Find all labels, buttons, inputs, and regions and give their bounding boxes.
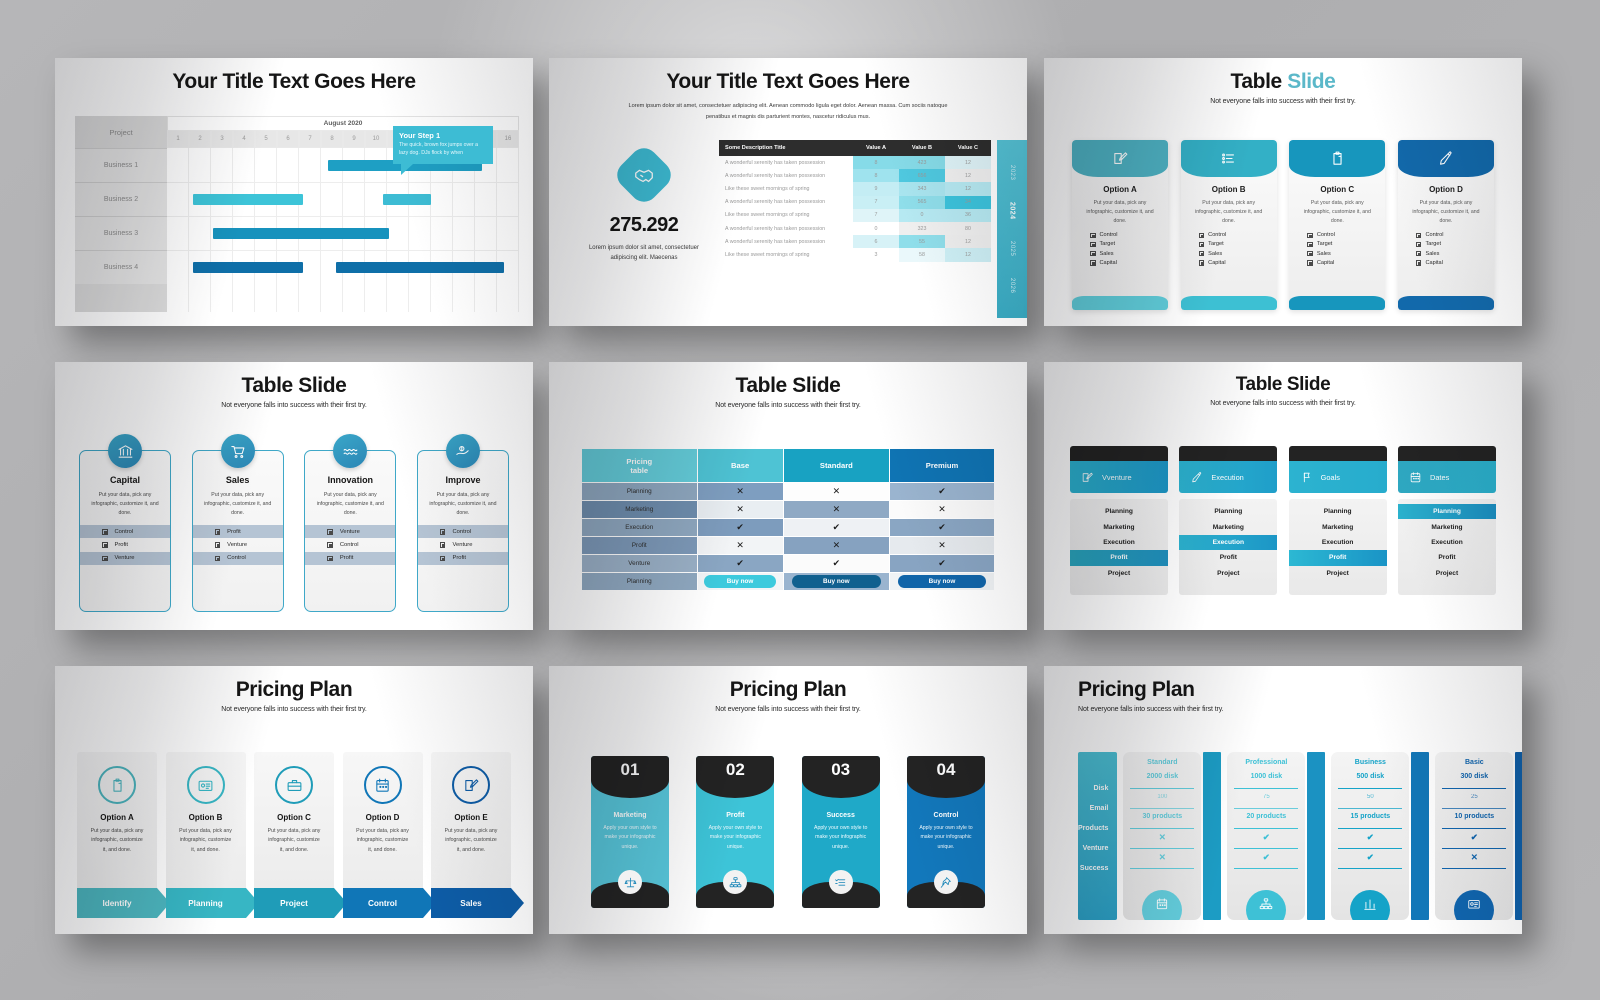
card-list-item[interactable]: Capital — [1307, 260, 1385, 266]
slide-arrow-options[interactable]: Pricing Plan Not everyone falls into suc… — [55, 666, 533, 934]
slide-data-table[interactable]: Your Title Text Goes Here Lorem ipsum do… — [549, 58, 1027, 326]
card-list-item[interactable]: Control — [1307, 232, 1385, 238]
card-icon-badge — [934, 870, 958, 894]
id-card-icon — [1467, 897, 1481, 911]
pricing-plan-column[interactable]: Standard2000 disk10030 products✕✕ — [1123, 752, 1201, 920]
card-list-label: Control — [340, 542, 359, 548]
card-list-label: Control — [1425, 232, 1443, 238]
checkbox-icon[interactable] — [1199, 233, 1205, 239]
gantt-gridline — [475, 148, 497, 312]
card-icon-ring — [364, 766, 402, 804]
gantt-day-cell: 10 — [365, 130, 387, 148]
card-list-item[interactable]: Execution — [1289, 535, 1387, 550]
table-cell-value: 343 — [899, 182, 945, 195]
year-rail[interactable]: 2023202420252026 — [997, 140, 1027, 318]
slide-pricing-matrix[interactable]: Table Slide Not everyone falls into succ… — [549, 362, 1027, 630]
card-title: Dates — [1430, 473, 1449, 482]
pricing-cell-cta[interactable]: Buy now — [698, 573, 783, 590]
slide7-subtitle: Not everyone falls into success with the… — [75, 706, 513, 713]
arrow-option-card[interactable]: Option CPut your data, pick any infograp… — [254, 752, 334, 918]
card-list-item[interactable]: Planning — [1398, 504, 1496, 519]
arrow-option-card[interactable]: Option EPut your data, pick any infograp… — [431, 752, 511, 918]
pricing-cell: ✕ — [698, 483, 783, 500]
card-list-item[interactable]: Control — [193, 552, 283, 565]
slide-gantt[interactable]: Your Title Text Goes Here Project Busine… — [55, 58, 533, 326]
option-card[interactable]: Option DPut your data, pick any infograp… — [1398, 140, 1494, 310]
check-icon: ✔ — [1234, 849, 1298, 869]
card-list-item[interactable]: Sales — [1307, 251, 1385, 257]
slide-dark-top-cards[interactable]: Table Slide Not everyone falls into succ… — [1044, 362, 1522, 630]
card-description: Apply your own style to make your infogr… — [907, 819, 985, 852]
gantt-row-divider — [167, 182, 519, 183]
card-description: Put your data, pick any infographic, cus… — [1181, 194, 1277, 226]
year-item[interactable]: 2026 — [1009, 278, 1015, 293]
card-list-item[interactable]: Marketing — [1398, 519, 1496, 534]
card-icon-badge — [829, 870, 853, 894]
card-header — [1289, 140, 1385, 177]
option-card[interactable]: Option BPut your data, pick any infograp… — [1181, 140, 1277, 310]
pricing-plan-column[interactable]: Basic300 disk2510 products✔✕ — [1435, 752, 1513, 920]
checkbox-icon[interactable] — [215, 542, 221, 548]
card-description: Put your data, pick any infographic, cus… — [80, 485, 170, 525]
checkbox-icon[interactable] — [1307, 260, 1313, 266]
year-item[interactable]: 2025 — [1009, 241, 1015, 256]
pricing-col-header: Premium — [890, 449, 994, 482]
checkbox-icon[interactable] — [102, 529, 108, 535]
card-list-item[interactable]: Control — [1090, 232, 1168, 238]
gantt-bar[interactable] — [383, 194, 431, 205]
arrow-option-card[interactable]: Option APut your data, pick any infograp… — [77, 752, 157, 918]
pricing-value: 10 products — [1442, 809, 1506, 829]
slide6-subtitle: Not everyone falls into success with the… — [1064, 400, 1502, 407]
checkbox-icon[interactable] — [102, 556, 108, 562]
year-item[interactable]: 2023 — [1009, 165, 1015, 180]
cross-icon: ✕ — [938, 504, 946, 514]
card-list-item[interactable]: Planning — [1179, 504, 1277, 519]
card-list-label: Capital — [1425, 260, 1442, 266]
card-spacer — [80, 565, 170, 579]
hierarchy-icon — [1259, 897, 1273, 911]
dark-top-card[interactable]: GoalsPlanningMarketingExecutionProfitPro… — [1289, 446, 1387, 612]
slide5-title: Table Slide — [569, 374, 1007, 398]
pricing-cell: ✔ — [784, 555, 889, 572]
pricing-value: 20 products — [1234, 809, 1298, 829]
card-description: Put your data, pick any infographic, cus… — [305, 485, 395, 525]
stage-arrow[interactable]: Planning — [166, 888, 246, 918]
cart-icon — [229, 443, 246, 460]
table-cell-value: 12 — [945, 182, 991, 195]
gantt-bar[interactable] — [213, 228, 389, 239]
card-title: Option C — [254, 813, 334, 822]
buy-now-button[interactable]: Buy now — [792, 575, 880, 588]
data-table-header-cell: Value C — [945, 140, 991, 156]
card-title: Option A — [77, 813, 157, 822]
card-footer — [1181, 296, 1277, 310]
card-list-item[interactable]: Target — [1199, 241, 1277, 247]
table-cell-desc: A wonderful serenity has taken possessio… — [719, 196, 853, 209]
pricing-row-label: Products — [1078, 819, 1117, 839]
outline-card[interactable]: ImprovePut your data, pick any infograph… — [417, 450, 509, 612]
card-title: Capital — [80, 475, 170, 485]
card-icon-ring — [452, 766, 490, 804]
slide-pricing-columns[interactable]: Pricing Plan Not everyone falls into suc… — [1044, 666, 1522, 934]
gantt-gridline — [167, 148, 189, 312]
checkbox-icon[interactable] — [215, 556, 221, 562]
stage-arrow-label: Planning — [188, 899, 223, 908]
table-cell-value: 323 — [899, 222, 945, 235]
numbered-card[interactable]: 03SuccessApply your own style to make yo… — [802, 756, 880, 908]
edit-square-icon — [1081, 471, 1094, 484]
card-icon-circle — [108, 434, 142, 468]
checkbox-icon[interactable] — [327, 542, 333, 548]
cross-icon: ✕ — [736, 504, 744, 514]
stage-arrow[interactable]: Control — [343, 888, 423, 918]
card-number: 02 — [696, 756, 774, 798]
card-icon-circle — [446, 434, 480, 468]
stage-arrow[interactable]: Identify — [77, 888, 157, 918]
card-title: Vventure — [1102, 473, 1132, 482]
stage-arrow-label: Sales — [460, 899, 481, 908]
card-list-item[interactable]: Profit — [1289, 550, 1387, 565]
gantt-row-label: Business 2 — [75, 182, 167, 216]
table-cell-value: 34 — [945, 196, 991, 209]
checkbox-icon[interactable] — [1416, 233, 1422, 239]
pricing-value: 1000 disk — [1234, 769, 1298, 789]
slide3-title-accent: Slide — [1287, 70, 1335, 93]
card-icon-circle — [333, 434, 367, 468]
table-cell-desc: Like these sweet mornings of spring — [719, 182, 853, 195]
card-list-item[interactable]: Marketing — [1070, 519, 1168, 534]
card-header: Vventure — [1070, 461, 1168, 493]
card-list-item[interactable]: Venture — [305, 525, 395, 538]
card-description: Put your data, pick any infographic, cus… — [343, 822, 423, 855]
pricing-cell: ✔ — [698, 519, 783, 536]
pricing-row-label: Venture — [582, 555, 697, 572]
card-list-item[interactable]: Sales — [1416, 251, 1494, 257]
checkbox-icon[interactable] — [440, 529, 446, 535]
card-list-label: Capital — [1208, 260, 1225, 266]
numbered-card[interactable]: 01MarketingApply your own style to make … — [591, 756, 669, 908]
card-list-item[interactable]: Control — [305, 538, 395, 551]
card-list-item[interactable]: Execution — [1398, 535, 1496, 550]
checkbox-icon[interactable] — [215, 529, 221, 535]
card-list-item[interactable]: Sales — [1199, 251, 1277, 257]
slide5-subtitle: Not everyone falls into success with the… — [569, 402, 1007, 409]
checkbox-icon[interactable] — [440, 556, 446, 562]
card-list-item[interactable]: Profit — [80, 538, 170, 551]
card-list-item[interactable]: Venture — [80, 552, 170, 565]
slide7-title: Pricing Plan — [75, 678, 513, 702]
table-cell-value: 0 — [899, 209, 945, 222]
slide2-title: Your Title Text Goes Here — [569, 70, 1007, 94]
pricing-cell: ✕ — [784, 501, 889, 518]
gantt-day-cell: 7 — [299, 130, 321, 148]
gantt-bar[interactable] — [193, 194, 303, 205]
check-icon: ✔ — [1338, 829, 1402, 849]
card-body: Option APut your data, pick any infograp… — [77, 752, 157, 888]
gantt-tooltip: Your Step 1 The quick, brown fox jumps o… — [393, 126, 493, 164]
card-list-label: Sales — [1425, 251, 1439, 257]
card-description: Put your data, pick any infographic, cus… — [166, 822, 246, 855]
pricing-plan-column[interactable]: Business500 disk5015 products✔✔ — [1331, 752, 1409, 920]
checkbox-icon[interactable] — [1199, 242, 1205, 248]
card-title: Option D — [343, 813, 423, 822]
checkbox-icon[interactable] — [327, 529, 333, 535]
card-list-item[interactable]: Profit — [193, 525, 283, 538]
arrow-option-card[interactable]: Option DPut your data, pick any infograp… — [343, 752, 423, 918]
card-title: Execution — [1211, 473, 1243, 482]
gantt-bar[interactable] — [193, 262, 303, 273]
gantt-day-cell: 1 — [167, 130, 189, 148]
pricing-row-label: Venture — [1078, 839, 1117, 859]
card-description: Put your data, pick any infographic, cus… — [1398, 194, 1494, 226]
card-list-item[interactable]: Project — [1070, 566, 1168, 581]
card-list-item[interactable]: Project — [1398, 566, 1496, 581]
pricing-cell: ✕ — [890, 537, 994, 554]
slide-option-cards[interactable]: Table Slide Not everyone falls into succ… — [1044, 58, 1522, 326]
cross-icon: ✕ — [1130, 829, 1194, 849]
option-card[interactable]: Option CPut your data, pick any infograp… — [1289, 140, 1385, 310]
table-cell-value: 80 — [945, 222, 991, 235]
card-list-item[interactable]: Target — [1307, 241, 1385, 247]
gantt-day-cell: 9 — [343, 130, 365, 148]
check-icon: ✔ — [1442, 829, 1506, 849]
edit-square-icon — [463, 777, 480, 794]
pricing-cell-cta[interactable]: Buy now — [784, 573, 889, 590]
buy-now-button[interactable]: Buy now — [704, 575, 776, 588]
pricing-col-header: Base — [698, 449, 783, 482]
checkbox-icon[interactable] — [1307, 251, 1313, 257]
slide-outline-cards[interactable]: Table Slide Not everyone falls into succ… — [55, 362, 533, 630]
dark-top-card[interactable]: DatesPlanningMarketingExecutionProfitPro… — [1398, 446, 1496, 612]
table-cell-value: 7 — [853, 196, 899, 209]
card-list-label: Sales — [1208, 251, 1222, 257]
card-title: Option B — [166, 813, 246, 822]
card-list-item[interactable]: Capital — [1416, 260, 1494, 266]
id-card-icon — [197, 777, 214, 794]
money-hand-icon — [454, 443, 471, 460]
calendar-icon — [374, 777, 391, 794]
checkbox-icon[interactable] — [1090, 260, 1096, 266]
plan-name: Standard — [1123, 752, 1201, 769]
table-cell-value: 12 — [945, 156, 991, 169]
cross-icon: ✕ — [1130, 849, 1194, 869]
slide3-subtitle: Not everyone falls into success with the… — [1064, 98, 1502, 105]
slide3-title-main: Table — [1231, 70, 1288, 93]
checkbox-icon[interactable] — [1090, 233, 1096, 239]
card-list-label: Sales — [1317, 251, 1331, 257]
table-cell-value: 36 — [945, 209, 991, 222]
pricing-row-label: Marketing — [582, 501, 697, 518]
card-list-item[interactable]: Venture — [418, 538, 508, 551]
checkbox-icon[interactable] — [1199, 251, 1205, 257]
card-list-item[interactable]: Planning — [1070, 504, 1168, 519]
checkbox-icon[interactable] — [1416, 260, 1422, 266]
pricing-col-header: Pricingtable — [582, 449, 697, 482]
table-cell-value: 8 — [853, 156, 899, 169]
dark-top-card[interactable]: ExecutionPlanningMarketingExecutionProfi… — [1179, 446, 1277, 612]
outline-card[interactable]: CapitalPut your data, pick any infograph… — [79, 450, 171, 612]
outline-card[interactable]: SalesPut your data, pick any infographic… — [192, 450, 284, 612]
card-list-label: Capital — [1317, 260, 1334, 266]
checkbox-icon[interactable] — [1199, 260, 1205, 266]
table-cell-value: 7 — [853, 209, 899, 222]
card-list-item[interactable]: Project — [1179, 566, 1277, 581]
card-list-item[interactable]: Sales — [1090, 251, 1168, 257]
card-list-item[interactable]: Project — [1289, 566, 1387, 581]
card-list-item[interactable]: Capital — [1199, 260, 1277, 266]
card-header: Goals — [1289, 461, 1387, 493]
card-description: Put your data, pick any infographic, cus… — [254, 822, 334, 855]
card-header: Dates — [1398, 461, 1496, 493]
stage-arrow[interactable]: Project — [254, 888, 334, 918]
dark-top-card[interactable]: VventurePlanningMarketingExecutionProfit… — [1070, 446, 1168, 612]
card-list: ControlTargetSalesCapital — [1181, 232, 1277, 269]
card-title: Goals — [1321, 473, 1340, 482]
cross-icon: ✕ — [736, 486, 744, 496]
gantt-row-labels: Project Business 1Business 2Business 3Bu… — [75, 116, 167, 312]
card-list-label: Control — [1208, 232, 1226, 238]
gantt-bar[interactable] — [336, 262, 503, 273]
data-table-header-row: Some Description TitleValue AValue BValu… — [719, 140, 991, 156]
gantt-project-header: Project — [75, 116, 167, 148]
card-list-item[interactable]: Marketing — [1179, 519, 1277, 534]
card-header — [1181, 140, 1277, 177]
card-list-item[interactable]: Control — [80, 525, 170, 538]
card-list-label: Control — [115, 529, 134, 535]
edit-square-icon — [1112, 150, 1129, 167]
card-title: Improve — [418, 475, 508, 485]
pricing-plan-column[interactable]: Professional1000 disk7520 products✔✔ — [1227, 752, 1305, 920]
card-list-label: Venture — [340, 529, 360, 535]
gantt-day-cell: 5 — [255, 130, 277, 148]
checkbox-icon[interactable] — [1090, 251, 1096, 257]
card-title: Success — [802, 812, 880, 819]
card-list-item[interactable]: Control — [418, 525, 508, 538]
pricing-row-label: Success — [1078, 859, 1117, 879]
stage-arrow[interactable]: Sales — [431, 888, 511, 918]
gantt-chart: Project Business 1Business 2Business 3Bu… — [75, 116, 519, 312]
card-body: Option EPut your data, pick any infograp… — [431, 752, 511, 888]
card-footer — [1072, 296, 1168, 310]
table-cell-value: 55 — [899, 235, 945, 248]
card-list-label: Control — [452, 529, 471, 535]
plan-side-bar — [1515, 752, 1522, 920]
wave-icon — [342, 443, 359, 460]
pencil-icon — [1437, 150, 1454, 167]
card-list-item[interactable]: Control — [1199, 232, 1277, 238]
arrow-option-card[interactable]: Option BPut your data, pick any infograp… — [166, 752, 246, 918]
card-list-item[interactable]: Execution — [1070, 535, 1168, 550]
card-list-label: Venture — [115, 555, 135, 561]
checkbox-icon[interactable] — [440, 542, 446, 548]
check-icon: ✔ — [736, 558, 744, 568]
year-item[interactable]: 2024 — [1009, 202, 1016, 220]
option-card[interactable]: Option APut your data, pick any infograp… — [1072, 140, 1168, 310]
card-list-item[interactable]: Target — [1090, 241, 1168, 247]
card-list-label: Target — [1100, 241, 1116, 247]
chart-icon — [1363, 897, 1377, 911]
cross-icon: ✕ — [833, 504, 841, 514]
checkbox-icon[interactable] — [102, 542, 108, 548]
card-list-item[interactable]: Profit — [1398, 550, 1496, 565]
pricing-row-label: Planning — [582, 483, 697, 500]
pricing-row-label: Disk — [1078, 779, 1117, 799]
slide-numbered-cards[interactable]: Pricing Plan Not everyone falls into suc… — [549, 666, 1027, 934]
gantt-day-cell: 2 — [189, 130, 211, 148]
cross-icon: ✕ — [1442, 849, 1506, 869]
card-list-item[interactable]: Profit — [1070, 550, 1168, 565]
card-list-item[interactable]: Venture — [193, 538, 283, 551]
check-icon: ✔ — [833, 522, 841, 532]
checkbox-icon[interactable] — [1090, 242, 1096, 248]
pricing-cell: ✕ — [890, 501, 994, 518]
card-list-item[interactable]: Execution — [1179, 535, 1277, 550]
card-description: Apply your own style to make your infogr… — [696, 819, 774, 852]
outline-card[interactable]: InnovationPut your data, pick any infogr… — [304, 450, 396, 612]
slide4-title: Table Slide — [75, 374, 513, 398]
table-cell-value: 423 — [899, 156, 945, 169]
table-cell-desc: A wonderful serenity has taken possessio… — [719, 235, 853, 248]
table-cell-value: 58 — [899, 248, 945, 261]
table-row: Like these sweet mornings of spring35812 — [719, 248, 991, 261]
stage-arrow-label: Control — [368, 899, 397, 908]
pricing-cell: ✔ — [698, 555, 783, 572]
card-list-item[interactable]: Planning — [1289, 504, 1387, 519]
card-header: Execution — [1179, 461, 1277, 493]
table-cell-value: 8 — [853, 169, 899, 182]
card-list-item[interactable]: Marketing — [1289, 519, 1387, 534]
card-list: ControlTargetSalesCapital — [1398, 232, 1494, 269]
checkbox-icon[interactable] — [1416, 242, 1422, 248]
numbered-card[interactable]: 04ControlApply your own style to make yo… — [907, 756, 985, 908]
card-title: Control — [907, 812, 985, 819]
card-list-label: Venture — [452, 542, 472, 548]
pricing-header-row: PricingtableBaseStandardPremium — [582, 449, 994, 482]
checkbox-icon[interactable] — [327, 556, 333, 562]
table-row: Profit✕✕✕ — [582, 537, 994, 554]
card-list: PlanningMarketingExecutionProfitProject — [1398, 499, 1496, 595]
cross-icon: ✕ — [833, 540, 841, 550]
card-title: Sales — [193, 475, 283, 485]
card-list-item[interactable]: Capital — [1090, 260, 1168, 266]
card-list-item[interactable]: Profit — [418, 552, 508, 565]
card-list: ControlTargetSalesCapital — [1072, 232, 1168, 269]
card-list-label: Target — [1317, 241, 1333, 247]
checkbox-icon[interactable] — [1307, 233, 1313, 239]
card-body: Option BPut your data, pick any infograp… — [166, 752, 246, 888]
card-list-item[interactable]: Target — [1416, 241, 1494, 247]
check-icon: ✔ — [736, 522, 744, 532]
table-cell-value: 6 — [853, 235, 899, 248]
card-list-item[interactable]: Profit — [305, 552, 395, 565]
checkbox-icon[interactable] — [1416, 251, 1422, 257]
table-cell-desc: A wonderful serenity has taken possessio… — [719, 156, 853, 169]
gantt-day-cell: 3 — [211, 130, 233, 148]
numbered-card[interactable]: 02ProfitApply your own style to make you… — [696, 756, 774, 908]
pricing-cell-cta[interactable]: Buy now — [890, 573, 994, 590]
checkbox-icon[interactable] — [1307, 242, 1313, 248]
slide8-title: Pricing Plan — [569, 678, 1007, 702]
table-row: A wonderful serenity has taken possessio… — [719, 196, 991, 209]
card-title: Innovation — [305, 475, 395, 485]
card-list-item[interactable]: Profit — [1179, 550, 1277, 565]
pricing-cell: ✔ — [784, 519, 889, 536]
card-list-item[interactable]: Control — [1416, 232, 1494, 238]
card-title: Option A — [1072, 185, 1168, 194]
pricing-row-label: Email — [1078, 799, 1117, 819]
buy-now-button[interactable]: Buy now — [898, 575, 985, 588]
